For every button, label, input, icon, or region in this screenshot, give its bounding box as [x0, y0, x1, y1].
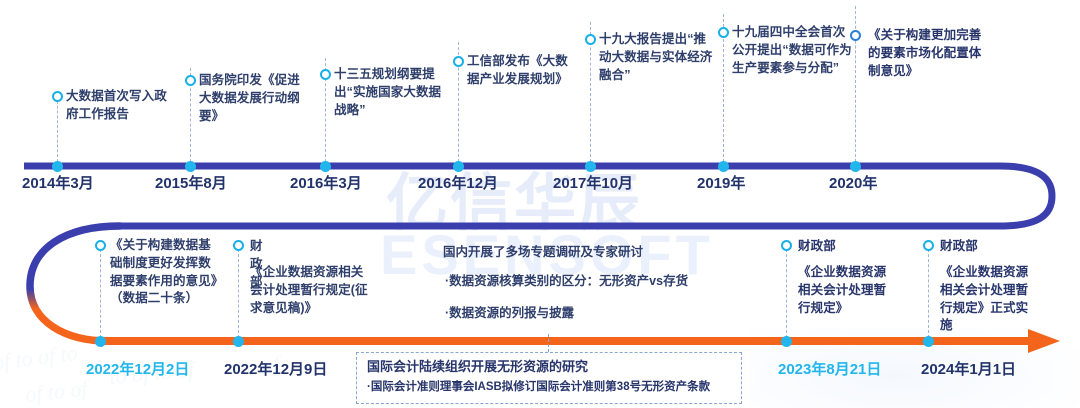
left-uturn-connector	[30, 226, 120, 341]
bottom-axis-dot-3	[923, 336, 934, 347]
top-axis-dot-1	[185, 161, 196, 172]
top-event-label-2: 十三五规划纲要提出“实施国家大数据战略”	[334, 66, 444, 119]
bottom-event-label-3: 《企业数据资源相关会计处理暂行规定》正式实施	[940, 264, 1030, 335]
bottom-event-org-2: 财政部	[798, 238, 838, 256]
svg-text:of to of to: of to of to	[0, 344, 79, 375]
event-marker-ring	[233, 240, 244, 251]
event-marker-ring	[320, 69, 331, 80]
bottom-date-label-0: 2022年12月2日	[86, 358, 189, 379]
bottom-event-org-3: 财政部	[940, 238, 980, 256]
top-date-label-2: 2016年3月	[290, 172, 362, 193]
background-texture: of to of to to of to of of to of to of	[0, 344, 410, 408]
top-event-label-0: 大数据首次写入政府工作报告	[66, 88, 170, 124]
event-marker-ring	[850, 30, 861, 41]
bottom-event-label-2: 《企业数据资源相关会计处理暂行规定》	[798, 264, 888, 317]
bottom-event-label-1: 《企业数据资源相关会计处理暂行规定(征求意见稿)》	[250, 264, 368, 317]
connector-stem	[928, 244, 929, 338]
top-event-label-3: 工信部发布《大数据产业发展规划》	[467, 53, 571, 89]
svg-text:of to of: of to of	[24, 375, 91, 407]
event-marker-ring	[185, 75, 196, 86]
international-accounting-callout: 国际会计陆续组织开展无形资源的研究 ·国际会计准则理事会IASB拟修订国际会计准…	[356, 352, 742, 404]
top-date-label-4: 2017年10月	[553, 172, 633, 193]
top-event-label-4: 十九大报告提出“推动大数据与实体经济融合”	[599, 31, 717, 84]
bottom-date-label-1: 2022年12月9日	[224, 358, 327, 379]
event-marker-ring	[52, 91, 63, 102]
bottom-date-label-3: 2024年1月1日	[921, 358, 1016, 379]
top-date-label-6: 2020年	[829, 172, 877, 193]
top-axis-dot-6	[850, 161, 861, 172]
top-date-label-5: 2019年	[697, 172, 745, 193]
top-axis-dot-5	[718, 161, 729, 172]
bottom-date-label-2: 2023年8月21日	[778, 358, 881, 379]
top-event-label-5: 十九届四中全会首次公开提出“数据可作为生产要素参与分配”	[732, 24, 852, 77]
event-marker-ring	[923, 240, 934, 251]
research-note-bullet-1: ·数据资源的列报与披露	[443, 304, 743, 323]
callout-title: 国际会计陆续组织开展无形资源的研究	[367, 358, 731, 376]
top-date-label-1: 2015年8月	[155, 172, 227, 193]
callout-stem	[548, 334, 549, 352]
timeline-arrow-head	[1028, 329, 1060, 353]
connector-stem	[786, 244, 787, 338]
top-event-label-6: 《关于构建更加完善的要素市场化配置体制意见》	[868, 27, 992, 80]
top-axis-dot-2	[320, 161, 331, 172]
timeline-infographic: 亿信华辰 ESENSOFT of to of to to of to of of…	[0, 0, 1080, 408]
bottom-axis-dot-0	[95, 336, 106, 347]
event-marker-ring	[585, 34, 596, 45]
top-date-label-0: 2014年3月	[22, 172, 94, 193]
connector-stem	[238, 244, 239, 338]
event-marker-ring	[453, 56, 464, 67]
connector-stem	[57, 96, 58, 162]
research-note: 国内开展了多场专题调研及专家研讨 ·数据资源核算类别的区分：无形资产vs存货 ·…	[443, 243, 743, 323]
bottom-axis-dot-1	[233, 336, 244, 347]
top-axis-dot-0	[52, 161, 63, 172]
callout-bullet: ·国际会计准则理事会IASB拟修订国际会计准则第38号无形资产条款	[367, 379, 731, 395]
top-event-label-1: 国务院印发《促进大数据发展行动纲要》	[199, 72, 303, 125]
event-marker-ring	[718, 27, 729, 38]
event-marker-ring	[95, 240, 106, 251]
event-marker-ring	[781, 240, 792, 251]
top-axis-dot-4	[585, 161, 596, 172]
bottom-axis-dot-2	[781, 336, 792, 347]
bottom-event-label-0: 《关于构建数据基础制度更好发挥数据要素作用的意见》（数据二十条）	[110, 237, 218, 308]
top-axis-dot-3	[453, 161, 464, 172]
connector-stem	[100, 244, 101, 338]
top-date-label-3: 2016年12月	[418, 172, 498, 193]
watermark-chinese: 亿信华辰	[386, 152, 642, 242]
research-note-heading: 国内开展了多场专题调研及专家研讨	[443, 243, 743, 262]
research-note-bullet-0: ·数据资源核算类别的区分：无形资产vs存货	[443, 272, 743, 291]
